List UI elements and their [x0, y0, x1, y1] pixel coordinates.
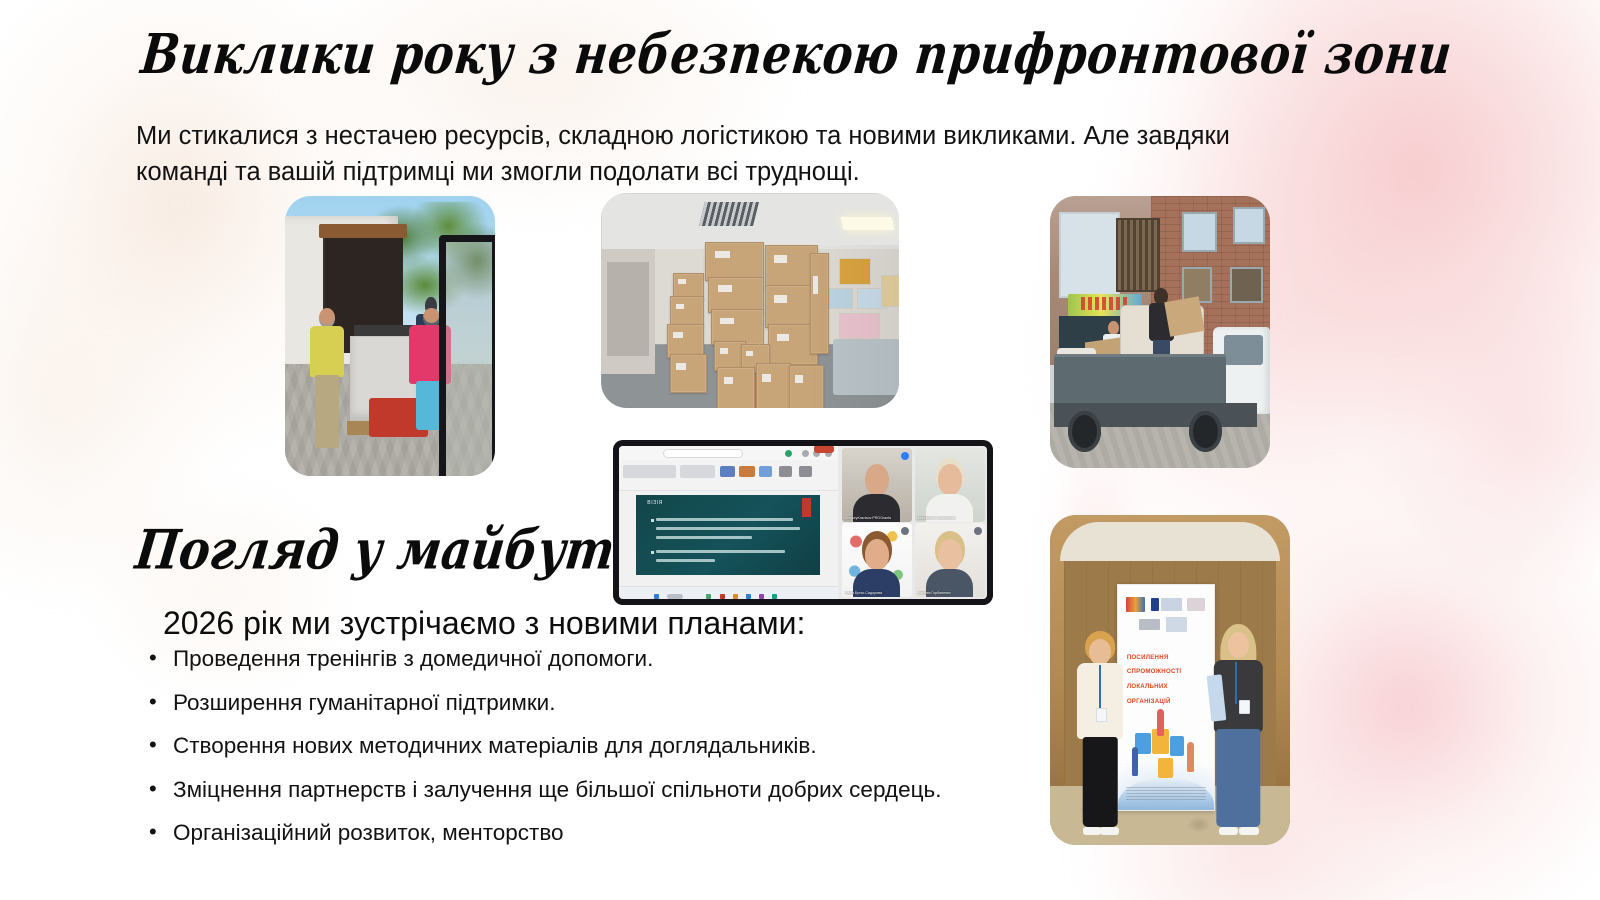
intro-paragraph: Ми стикалися з нестачею ресурсів, складн… — [136, 118, 1288, 190]
mute-badge-icon — [901, 452, 909, 460]
truck-roof-rim — [319, 224, 407, 238]
taskbar-app-icon[interactable] — [720, 594, 725, 599]
participant-face — [938, 464, 962, 495]
back-room — [607, 262, 649, 357]
banner-headline-line: ОРГАНІЗАЦІЙ — [1127, 699, 1206, 705]
slide-text-line — [656, 550, 785, 553]
truck-wheel — [1068, 411, 1101, 452]
lanyard — [1099, 665, 1101, 710]
participant-name: GregoryKravtsov PROGrants — [844, 516, 908, 520]
window — [1182, 212, 1217, 251]
slide-text-line — [656, 518, 792, 521]
illustration-figure — [1132, 747, 1139, 776]
rollup-banner: ПОСИЛЕННЯ СПРОМОЖНОСТІ ЛОКАЛЬНИХ ОРГАНІЗ… — [1117, 584, 1215, 810]
taskbar-app-icon[interactable] — [746, 594, 751, 599]
participant-name: Наталія Горбаненко — [917, 591, 981, 595]
powerpoint-window: ВІЗІЯ — [619, 446, 838, 599]
name-badge — [1096, 708, 1107, 722]
list-item: Зміцнення партнерств і залучення ще біль… — [143, 779, 1083, 802]
photo-video-call: ВІЗІЯ — [613, 440, 993, 605]
wooden-balcony — [1116, 218, 1160, 293]
slide-title: ВІЗІЯ — [647, 500, 663, 506]
jeans — [1217, 729, 1260, 826]
section-subtitle: Погляд у майбутнє — [132, 518, 680, 582]
partner-logo — [1187, 598, 1204, 611]
taskbar-app-icon[interactable] — [759, 594, 764, 599]
slide-text-line — [656, 536, 752, 539]
taskbar-app-icon[interactable] — [706, 594, 711, 599]
partner-logo — [1161, 598, 1182, 611]
head — [1089, 639, 1111, 666]
ribbon-icon[interactable] — [720, 466, 735, 476]
participant-face — [865, 539, 889, 570]
ribbon-icon[interactable] — [799, 466, 812, 476]
search-icon[interactable] — [667, 594, 683, 599]
ceiling-arch — [1060, 522, 1281, 562]
presentation-slide-content: ВІЗІЯ — [636, 495, 820, 575]
cardboard-box — [670, 354, 708, 393]
photo-aid-truck-loading — [1050, 196, 1270, 468]
metal-gate-frame — [439, 235, 495, 476]
participant-tile[interactable]: GregoryKravtsov PROGrants — [842, 448, 912, 522]
ribbon-icon[interactable] — [739, 466, 754, 476]
minimize-icon[interactable] — [802, 450, 809, 457]
red-rectangle-shape — [802, 498, 811, 517]
participant-tile[interactable]: Маргарита Горобченко — [915, 448, 985, 522]
window — [1230, 267, 1263, 304]
person-right — [1213, 624, 1263, 835]
slide-text-line — [656, 527, 800, 530]
presentation-slide: Виклики року з небезпекою прифронтової з… — [0, 0, 1600, 900]
cardboard-box — [711, 309, 764, 345]
laptop-screen: ВІЗІЯ — [619, 446, 988, 599]
start-icon[interactable] — [654, 594, 659, 599]
shoes — [1083, 827, 1101, 835]
participant-tile[interactable]: Наталія Горбаненко — [915, 523, 985, 597]
ribbon-icon[interactable] — [759, 466, 772, 476]
list-item: Створення нових методичних матеріалів дл… — [143, 735, 1083, 758]
banner-fine-print — [1126, 787, 1207, 800]
ribbon-toolbar[interactable] — [619, 460, 838, 492]
truck-bed — [1054, 354, 1226, 408]
puzzle-piece-blue — [1170, 736, 1184, 756]
mute-badge-icon — [974, 527, 982, 535]
name-badge — [1239, 700, 1250, 714]
person-yellow-shirt — [308, 308, 346, 448]
cardboard-box — [667, 324, 705, 358]
glazed-balcony — [1059, 212, 1120, 298]
partner-logo — [1166, 617, 1187, 633]
photo-truck-unloading — [285, 196, 495, 476]
plans-heading: 2026 рік ми зустрічаємо з новими планами… — [163, 605, 805, 642]
banner-headline-line: СПРОМОЖНОСТІ — [1127, 669, 1206, 675]
head — [319, 308, 335, 328]
illustration-figure — [1187, 742, 1194, 771]
photo-banner-women: ПОСИЛЕННЯ СПРОМОЖНОСТІ ЛОКАЛЬНИХ ОРГАНІЗ… — [1050, 515, 1290, 845]
cardboard-box — [705, 242, 764, 281]
shoes — [1219, 827, 1238, 835]
legs — [315, 375, 339, 448]
partner-logo — [1126, 597, 1145, 613]
shoes — [1239, 827, 1258, 835]
list-item: Проведення тренінгів з домедичної допомо… — [143, 648, 1083, 671]
bullet-marker — [651, 519, 654, 522]
ribbon-group[interactable] — [680, 465, 715, 478]
mute-badge-icon — [901, 527, 909, 535]
banner-headline-line: ЛОКАЛЬНИХ — [1127, 684, 1206, 690]
cardboard-box — [708, 277, 764, 313]
window — [1233, 207, 1266, 244]
shoes — [1100, 827, 1118, 835]
share-button[interactable] — [814, 446, 834, 453]
eu-flag-logo — [1151, 598, 1160, 611]
person-left — [1076, 631, 1124, 836]
illustration-figure — [1157, 709, 1165, 736]
bullet-marker — [651, 551, 654, 554]
participant-face — [865, 464, 889, 495]
windows-taskbar[interactable] — [619, 586, 838, 599]
slide-text-line — [656, 559, 715, 562]
plans-list: Проведення тренінгів з домедичної допомо… — [143, 648, 1083, 866]
participant-name: Надія Бутко-Сидорова — [844, 591, 908, 595]
ceiling-grille — [699, 202, 759, 226]
cardboard-box — [756, 363, 791, 408]
participant-tile[interactable]: Надія Бутко-Сидорова — [842, 523, 912, 597]
banner-headline-line: ПОСИЛЕННЯ — [1127, 655, 1206, 661]
lanyard — [1235, 662, 1237, 704]
head — [1108, 321, 1119, 335]
ribbon-group[interactable] — [623, 465, 676, 478]
corner-shading — [804, 245, 899, 408]
ceiling-light — [841, 217, 895, 230]
puzzle-piece-yellow — [1158, 758, 1173, 778]
ribbon-icon[interactable] — [779, 466, 792, 476]
head — [423, 308, 440, 327]
cab-window — [1224, 335, 1264, 365]
torso — [310, 326, 343, 376]
box-being-lifted — [1164, 297, 1205, 338]
page-title: Виклики року з небезпекою прифронтової з… — [0, 22, 1600, 87]
account-avatar-icon[interactable] — [785, 450, 792, 457]
truck-wheel — [1189, 411, 1222, 452]
empower-logo — [1139, 619, 1160, 630]
list-item: Розширення гуманітарної підтримки. — [143, 692, 1083, 715]
participant-face — [938, 539, 962, 570]
taskbar-app-icon[interactable] — [772, 594, 777, 599]
search-input[interactable] — [663, 449, 744, 458]
taskbar-app-icon[interactable] — [733, 594, 738, 599]
trousers — [1083, 737, 1118, 827]
cardboard-box — [717, 367, 755, 408]
list-item: Організаційний розвиток, менторство — [143, 822, 1083, 845]
photo-boxes-in-office — [601, 193, 899, 408]
participant-name: Маргарита Горобченко — [917, 516, 981, 520]
